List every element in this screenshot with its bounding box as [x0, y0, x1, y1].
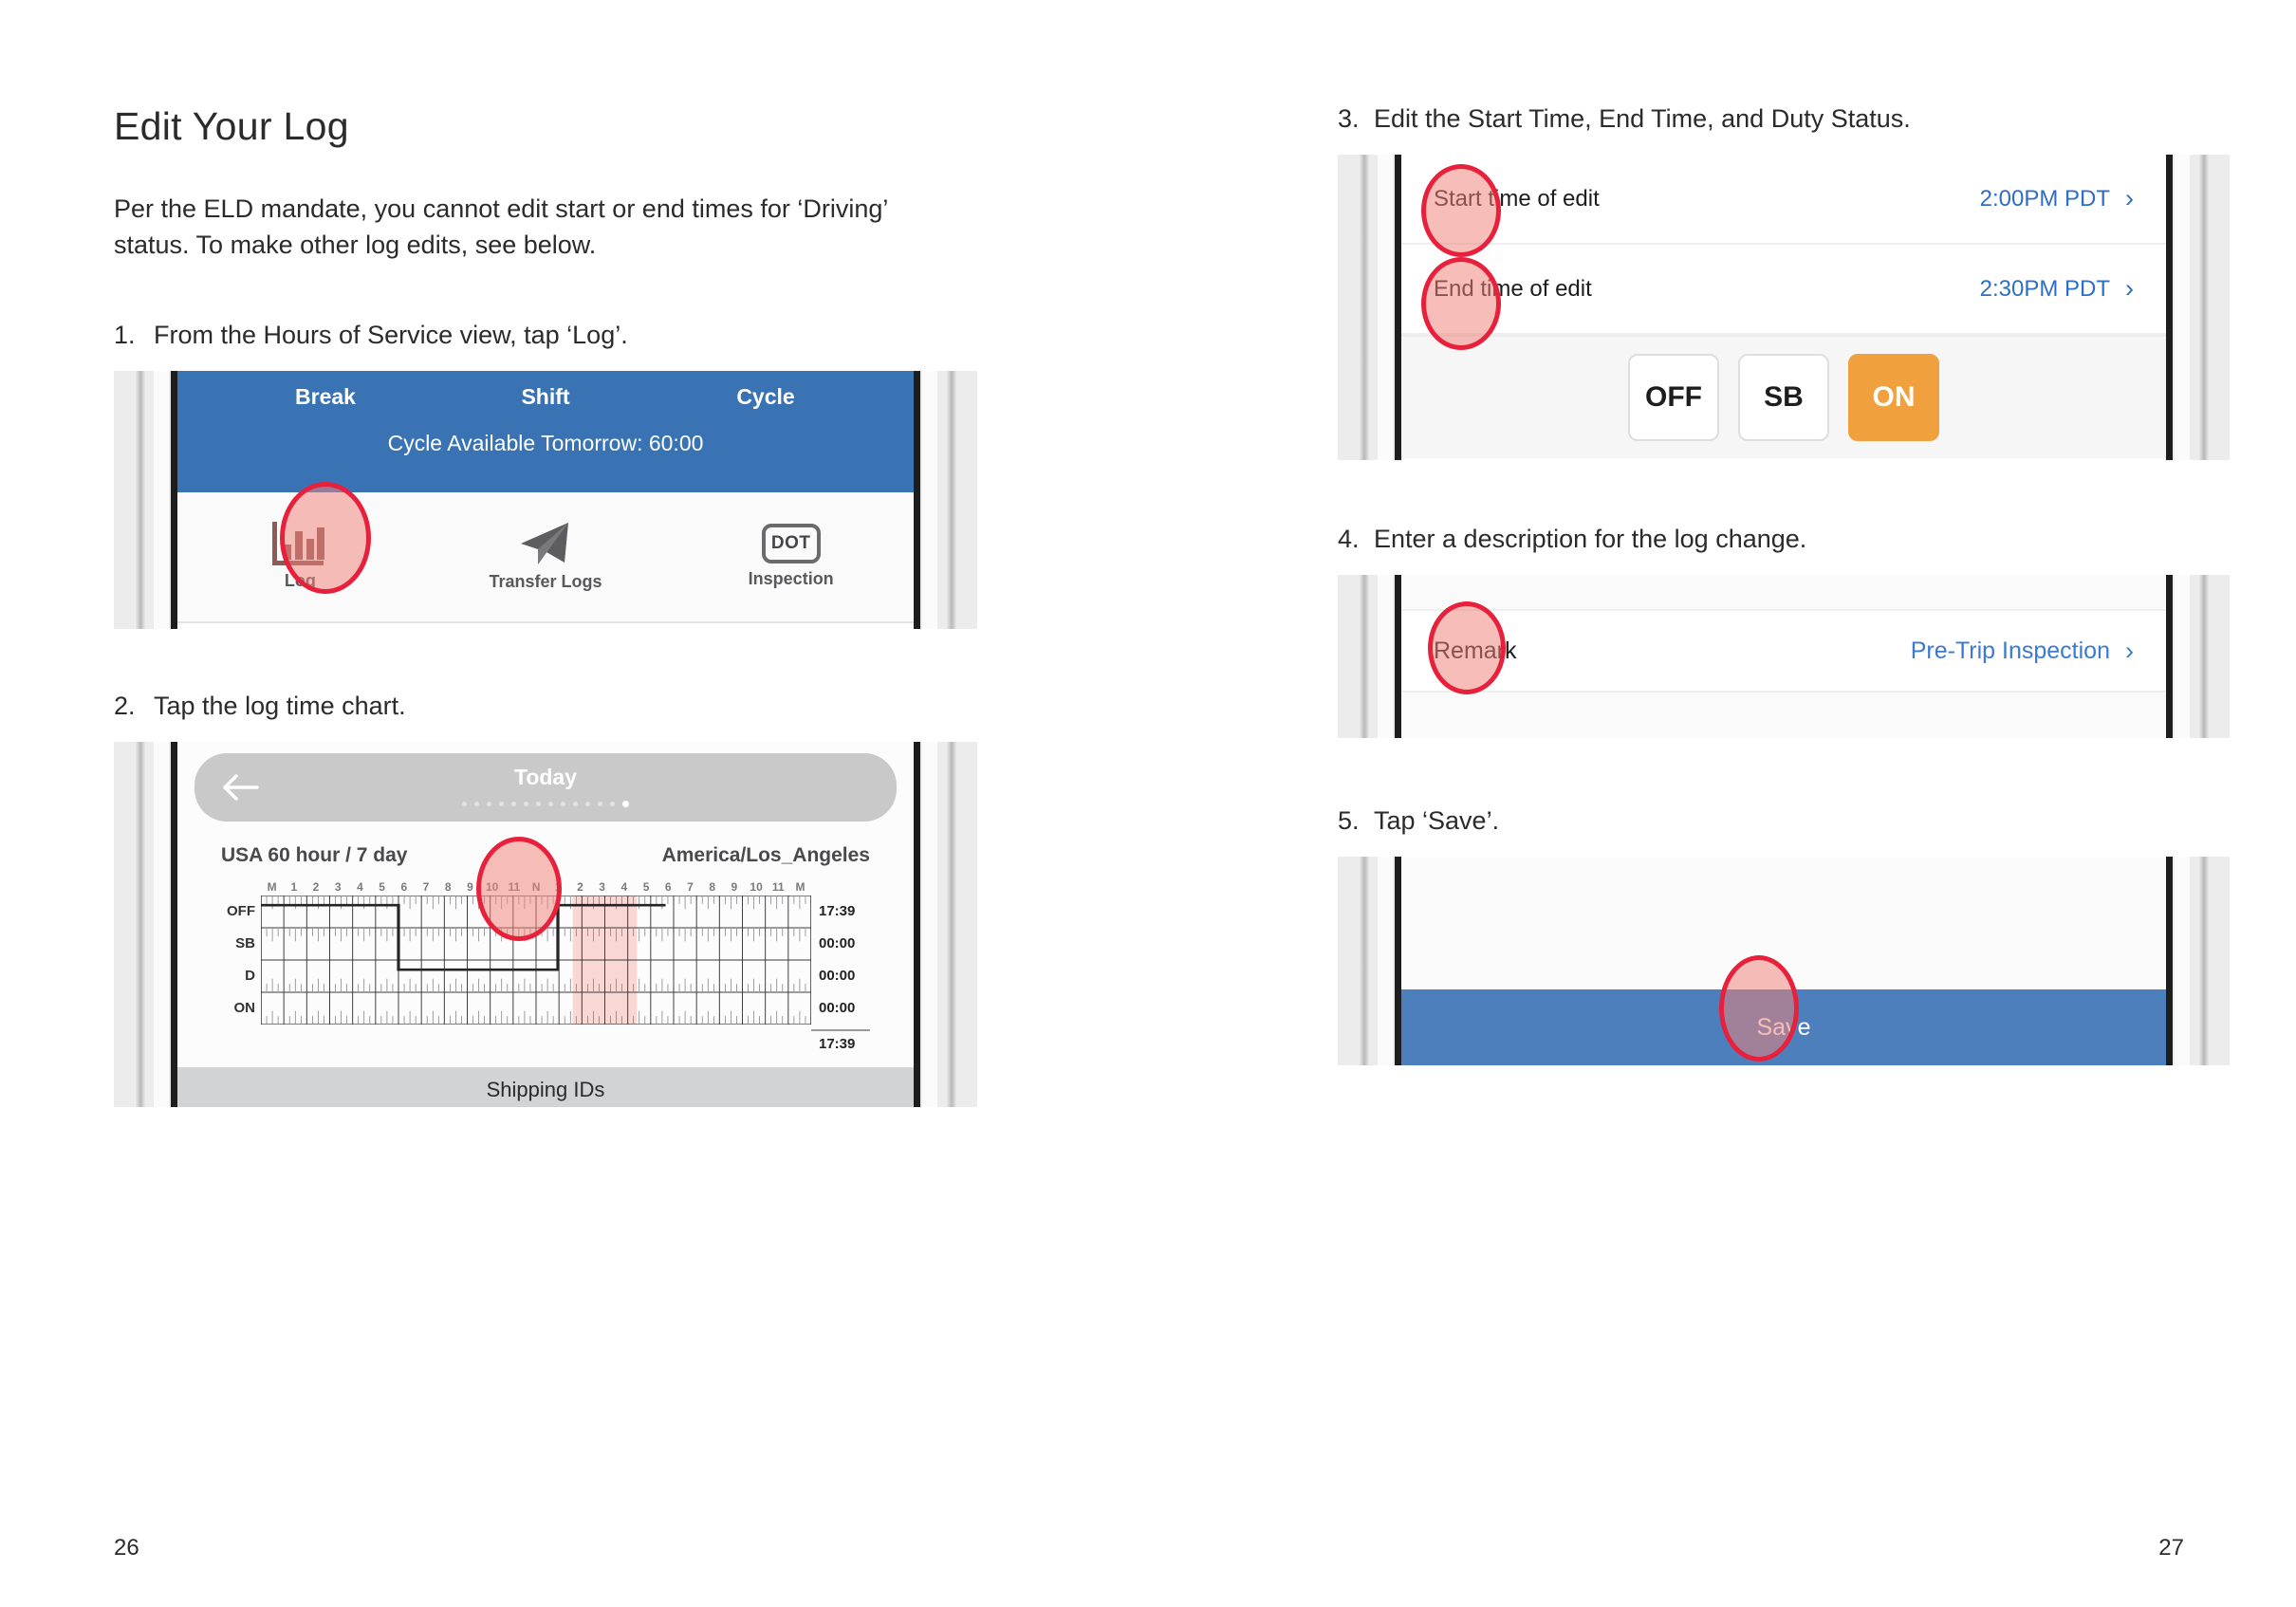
today-header-bar: Today — [194, 753, 897, 822]
phone-side-button-left — [1359, 575, 1369, 738]
row-label-sb: SB — [221, 928, 261, 960]
row-remark-value: Pre-Trip Inspection — [1911, 637, 2110, 665]
step-1-text: From the Hours of Service view, tap ‘Log… — [154, 321, 628, 350]
phone-bezel-left — [114, 371, 171, 629]
phone-side-button-right — [2198, 857, 2209, 1065]
page-title: Edit Your Log — [114, 104, 1063, 149]
bezel-gap-right — [2175, 857, 2190, 1065]
hour-tick: M — [261, 880, 283, 896]
remark-top-spacer — [1401, 575, 2166, 609]
action-inspection-label: Inspection — [749, 569, 834, 589]
row-label-d: D — [221, 960, 261, 992]
grid-row-labels: OFF SB D ON — [221, 880, 261, 1025]
row-label-on: ON — [221, 992, 261, 1025]
hour-tick: 9 — [459, 880, 481, 896]
chevron-right-icon: › — [2125, 638, 2134, 664]
remark-bottom-spacer — [1401, 693, 2166, 734]
action-inspection[interactable]: DOT Inspection — [668, 492, 914, 621]
step-1-label: 1. From the Hours of Service view, tap ‘… — [114, 321, 1063, 350]
bezel-gap-left — [1378, 857, 1393, 1065]
row-remark-value-group[interactable]: Pre-Trip Inspection › — [1911, 637, 2134, 665]
phone-side-button-left — [135, 371, 145, 629]
cycle-available-text: Cycle Available Tomorrow: 60:00 — [177, 431, 914, 456]
step-2-number: 2. — [114, 692, 139, 721]
bezel-gap-right — [2175, 575, 2190, 738]
chart-header: USA 60 hour / 7 day America/Los_Angeles — [177, 822, 914, 867]
grand-total: 17:39 — [811, 1029, 870, 1052]
rule-set-label: USA 60 hour / 7 day — [221, 844, 407, 867]
screen-edge-right — [2166, 857, 2173, 1065]
bezel-gap-left — [154, 742, 169, 1107]
log-chart-screen: Today USA 60 hour / 7 day America/Los_An… — [177, 742, 914, 1107]
screen-edge-left — [171, 742, 177, 1107]
hour-tick: 8 — [701, 880, 723, 896]
phone-side-button-left — [1359, 155, 1369, 460]
phone-bezel-left — [114, 742, 171, 1107]
hour-tick: 11 — [503, 880, 525, 896]
screenshot-remark: Remark Pre-Trip Inspection › — [1338, 575, 2230, 738]
row-end-time-value: 2:30PM PDT — [1980, 276, 2110, 303]
total-sb: 00:00 — [811, 928, 870, 960]
step-1-number: 1. — [114, 321, 139, 350]
screen-edge-left — [1395, 155, 1401, 460]
right-column: 3. Edit the Start Time, End Time, and Du… — [1338, 104, 2230, 1065]
phone-bezel-right — [2173, 857, 2230, 1065]
hour-tick: 8 — [437, 880, 459, 896]
action-log[interactable]: Log — [177, 492, 423, 621]
row-label-off: OFF — [221, 896, 261, 928]
step-3-label: 3. Edit the Start Time, End Time, and Du… — [1338, 104, 2230, 134]
phone-bezel-left — [1338, 155, 1395, 460]
phone-side-button-left — [1359, 857, 1369, 1065]
save-button[interactable]: Save — [1401, 989, 2166, 1065]
phone-side-button-right — [946, 371, 956, 629]
hour-tick: 5 — [371, 880, 393, 896]
hour-tick: 6 — [393, 880, 415, 896]
hour-tick: M — [789, 880, 811, 896]
screenshot-edit-times: Start time of edit 2:00PM PDT › End time… — [1338, 155, 2230, 460]
row-end-time[interactable]: End time of edit 2:30PM PDT › — [1401, 245, 2166, 335]
row-start-time[interactable]: Start time of edit 2:00PM PDT › — [1401, 155, 2166, 245]
row-start-time-value: 2:00PM PDT — [1980, 186, 2110, 212]
row-remark[interactable]: Remark Pre-Trip Inspection › — [1401, 609, 2166, 693]
duty-status-grid[interactable]: OFF SB D ON M1234567891011N1234567891011… — [221, 880, 870, 1052]
total-on: 00:00 — [811, 992, 870, 1025]
dot-badge-icon: DOT — [762, 524, 821, 563]
bezel-gap-left — [154, 371, 169, 629]
step-5-number: 5. — [1338, 806, 1362, 836]
action-transfer-logs[interactable]: Transfer Logs — [423, 492, 669, 621]
step-5-text: Tap ‘Save’. — [1374, 806, 1499, 836]
phone-bezel-left — [1338, 857, 1395, 1065]
hos-action-bar: Log Transfer Logs DOT Inspection — [177, 492, 914, 623]
screen-edge-right — [914, 742, 920, 1107]
page-number-right: 27 — [2158, 1535, 2184, 1561]
bezel-gap-left — [1378, 155, 1393, 460]
total-off: 17:39 — [811, 896, 870, 928]
hour-tick: 10 — [481, 880, 503, 896]
row-end-time-value-group[interactable]: 2:30PM PDT › — [1980, 276, 2134, 303]
hour-tick: 1 — [547, 880, 569, 896]
hos-tab-bar: Break Shift Cycle — [177, 384, 914, 410]
grid-hour-ticks: M1234567891011N1234567891011M — [261, 880, 811, 896]
action-log-label: Log — [285, 571, 316, 591]
hour-tick: 4 — [349, 880, 371, 896]
duty-status-selector: OFF SB ON — [1401, 335, 2166, 458]
hour-tick: 3 — [327, 880, 349, 896]
bezel-gap-right — [2175, 155, 2190, 460]
tab-break[interactable]: Break — [215, 384, 435, 410]
action-transfer-logs-label: Transfer Logs — [489, 572, 602, 592]
phone-bezel-right — [920, 371, 977, 629]
row-start-time-label: Start time of edit — [1434, 185, 1600, 213]
hour-tick: 2 — [569, 880, 591, 896]
status-button-sb[interactable]: SB — [1738, 354, 1829, 441]
hour-tick: 10 — [745, 880, 767, 896]
screenshot-hours-of-service: Break Shift Cycle Cycle Available Tomorr… — [114, 371, 977, 629]
bezel-gap-right — [922, 742, 937, 1107]
hour-tick: 9 — [723, 880, 745, 896]
chevron-right-icon: › — [2125, 276, 2134, 302]
step-4-text: Enter a description for the log change. — [1374, 525, 1806, 554]
bezel-gap-right — [922, 371, 937, 629]
left-column: Edit Your Log Per the ELD mandate, you c… — [114, 104, 1063, 1107]
hos-screen: Break Shift Cycle Cycle Available Tomorr… — [177, 371, 914, 629]
hour-tick: 6 — [657, 880, 679, 896]
step-4-number: 4. — [1338, 525, 1362, 554]
shipping-ids-header: Shipping IDs — [177, 1067, 914, 1107]
page-dots — [194, 796, 897, 813]
row-start-time-value-group[interactable]: 2:00PM PDT › — [1980, 186, 2134, 212]
screen-edge-right — [2166, 575, 2173, 738]
bezel-gap-left — [1378, 575, 1393, 738]
status-button-on[interactable]: ON — [1848, 354, 1939, 441]
paper-plane-icon — [519, 521, 572, 566]
screen-edge-right — [914, 371, 920, 629]
hour-tick: 11 — [768, 880, 789, 896]
hour-tick: 5 — [635, 880, 657, 896]
hos-header: Break Shift Cycle Cycle Available Tomorr… — [177, 371, 914, 492]
phone-side-button-right — [2198, 155, 2209, 460]
hour-tick: N — [525, 880, 546, 896]
today-title: Today — [194, 765, 897, 790]
phone-bezel-right — [920, 742, 977, 1107]
step-2-label: 2. Tap the log time chart. — [114, 692, 1063, 721]
row-remark-label: Remark — [1434, 637, 1517, 665]
phone-bezel-right — [2173, 155, 2230, 460]
total-d: 00:00 — [811, 960, 870, 992]
document-page: Edit Your Log Per the ELD mandate, you c… — [0, 0, 2296, 1607]
phone-bezel-left — [1338, 575, 1395, 738]
screenshot-save: Save — [1338, 857, 2230, 1065]
page-number-left: 26 — [114, 1535, 139, 1561]
hour-tick: 2 — [305, 880, 326, 896]
phone-bezel-right — [2173, 575, 2230, 738]
screenshot-log-chart: Today USA 60 hour / 7 day America/Los_An… — [114, 742, 977, 1107]
step-3-number: 3. — [1338, 104, 1362, 134]
phone-side-button-right — [2198, 575, 2209, 738]
tab-shift[interactable]: Shift — [435, 384, 656, 410]
screen-edge-left — [171, 371, 177, 629]
intro-paragraph: Per the ELD mandate, you cannot edit sta… — [114, 191, 968, 264]
save-screen: Save — [1401, 857, 2166, 1065]
step-5-label: 5. Tap ‘Save’. — [1338, 806, 2230, 836]
bar-chart-icon — [272, 522, 327, 565]
screen-edge-left — [1395, 857, 1401, 1065]
hour-tick: 4 — [613, 880, 635, 896]
chevron-right-icon: › — [2125, 186, 2134, 212]
step-2-text: Tap the log time chart. — [154, 692, 406, 721]
step-4-label: 4. Enter a description for the log chang… — [1338, 525, 2230, 554]
edit-times-screen: Start time of edit 2:00PM PDT › End time… — [1401, 155, 2166, 460]
status-button-off[interactable]: OFF — [1628, 354, 1719, 441]
tab-cycle[interactable]: Cycle — [656, 384, 876, 410]
phone-side-button-right — [946, 742, 956, 1107]
hour-tick: 7 — [679, 880, 701, 896]
duty-status-plot[interactable] — [261, 896, 811, 1025]
remark-screen: Remark Pre-Trip Inspection › — [1401, 575, 2166, 738]
hour-tick: 3 — [591, 880, 613, 896]
screen-edge-left — [1395, 575, 1401, 738]
grid-row-totals: 17:39 00:00 00:00 00:00 — [811, 880, 870, 1025]
save-blank-area — [1401, 857, 2166, 989]
hour-tick: 7 — [415, 880, 436, 896]
step-3-text: Edit the Start Time, End Time, and Duty … — [1374, 104, 1911, 134]
row-end-time-label: End time of edit — [1434, 275, 1592, 304]
screen-edge-right — [2166, 155, 2173, 460]
timezone-label: America/Los_Angeles — [662, 844, 870, 867]
dot-badge-text: DOT — [771, 533, 811, 554]
phone-side-button-left — [135, 742, 145, 1107]
hour-tick: 1 — [283, 880, 305, 896]
